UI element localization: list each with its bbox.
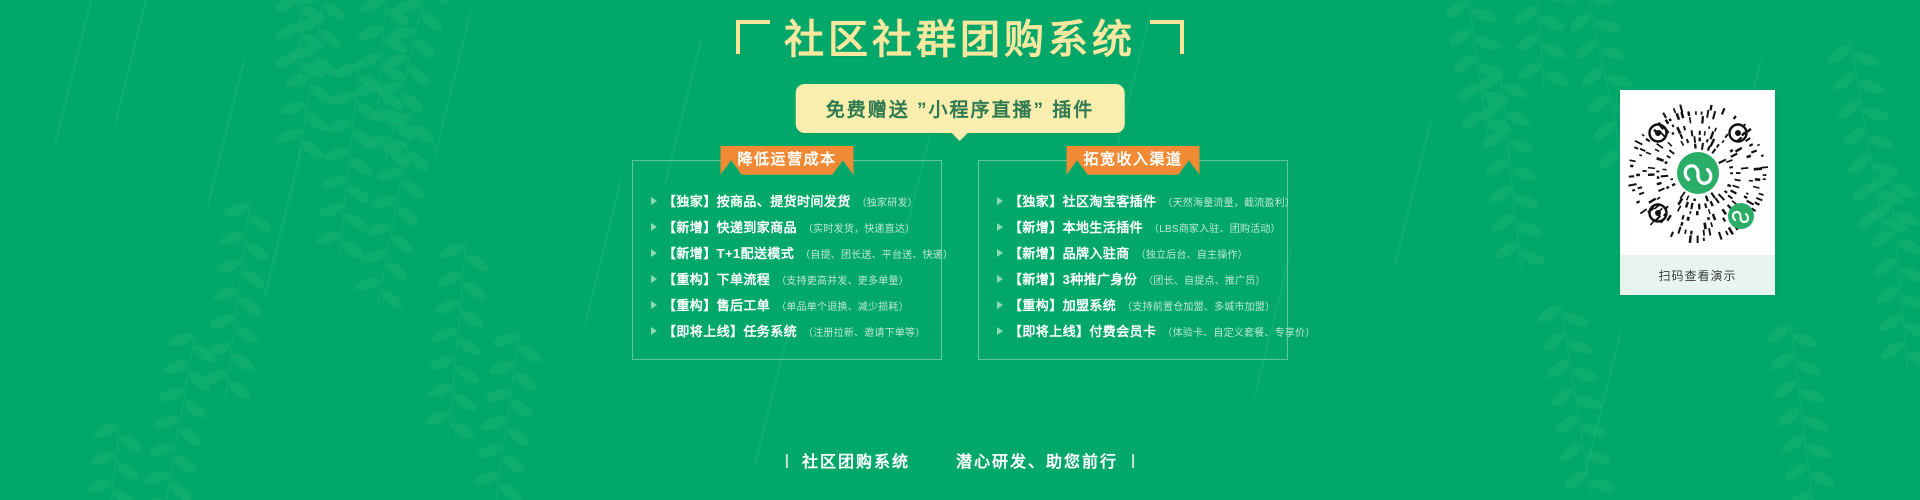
- list-item[interactable]: 【重构】下单流程 （支持更高并发、更多单量）: [647, 265, 927, 291]
- feature-title: 【重构】加盟系统: [1009, 295, 1116, 314]
- triangle-bullet-icon: [651, 275, 657, 283]
- triangle-bullet-icon: [651, 223, 657, 231]
- triangle-bullet-icon: [997, 327, 1003, 335]
- feature-title: 【独家】社区淘宝客插件: [1009, 191, 1156, 210]
- footer: | 社区团购系统 潜心研发、助您前行 |: [0, 448, 1920, 472]
- promo-banner-text: 免费赠送 ”小程序直播” 插件: [826, 100, 1095, 121]
- feature-note: （体验卡、自定义套餐、专享价）: [1162, 324, 1315, 339]
- feature-note: （自提、团长送、平台送、快递）: [800, 246, 953, 261]
- list-item[interactable]: 【独家】按商品、提货时间发货 （独家研发）: [647, 187, 927, 213]
- list-item[interactable]: 【新增】品牌入驻商 （独立后台、自主操作）: [993, 239, 1273, 265]
- wechat-miniprogram-qr-icon: [1628, 103, 1768, 243]
- list-item[interactable]: 【即将上线】付费会员卡 （体验卡、自定义套餐、专享价）: [993, 317, 1273, 343]
- feature-note: （支持更高并发、更多单量）: [776, 272, 909, 287]
- feature-title: 【重构】下单流程: [663, 269, 770, 288]
- qr-demo-card[interactable]: 扫码查看演示: [1620, 90, 1775, 295]
- triangle-bullet-icon: [997, 275, 1003, 283]
- footer-divider-right: |: [1131, 452, 1135, 469]
- list-item[interactable]: 【即将上线】任务系统 （注册拉新、邀请下单等）: [647, 317, 927, 343]
- feature-note: （实时发货，快递直达）: [803, 220, 915, 235]
- triangle-bullet-icon: [651, 327, 657, 335]
- feature-title: 【即将上线】付费会员卡: [1009, 321, 1156, 340]
- feature-title: 【新增】快递到家商品: [663, 217, 797, 236]
- page-title-text: 社区社群团购系统: [784, 20, 1136, 60]
- list-item[interactable]: 【新增】快递到家商品 （实时发货，快递直达）: [647, 213, 927, 239]
- panel-badge-cost: 降低运营成本: [720, 146, 853, 175]
- triangle-bullet-icon: [997, 223, 1003, 231]
- footer-slogan: 潜心研发、助您前行: [956, 448, 1118, 472]
- feature-note: （支持前置仓加盟、多城市加盟）: [1122, 298, 1275, 313]
- footer-brand: 社区团购系统: [802, 448, 910, 472]
- feature-title: 【即将上线】任务系统: [663, 321, 797, 340]
- feature-title: 【重构】售后工单: [663, 295, 770, 314]
- feature-title: 【独家】按商品、提货时间发货: [663, 191, 851, 210]
- triangle-bullet-icon: [997, 301, 1003, 309]
- feature-note: （独家研发）: [857, 194, 918, 209]
- page-title: 社区社群团购系统: [0, 20, 1920, 60]
- feature-note: （LBS商家入驻、团购活动）: [1149, 220, 1281, 235]
- feature-note: （团长、自提点、推广员）: [1143, 272, 1265, 287]
- list-item[interactable]: 【重构】加盟系统 （支持前置仓加盟、多城市加盟）: [993, 291, 1273, 317]
- list-item[interactable]: 【独家】社区淘宝客插件 （天然海量流量，截流盈利）: [993, 187, 1273, 213]
- triangle-bullet-icon: [651, 197, 657, 205]
- feature-title: 【新增】品牌入驻商: [1009, 243, 1130, 262]
- feature-note: （独立后台、自主操作）: [1136, 246, 1248, 261]
- promo-banner-pointer: [951, 132, 969, 141]
- qr-image-wrap: [1620, 90, 1775, 255]
- feature-title: 【新增】T+1配送模式: [663, 243, 794, 262]
- list-item[interactable]: 【重构】售后工单 （单品单个退换、减少损耗）: [647, 291, 927, 317]
- list-item[interactable]: 【新增】T+1配送模式 （自提、团长送、平台送、快递）: [647, 239, 927, 265]
- feature-panel-cost: 降低运营成本 【独家】按商品、提货时间发货 （独家研发） 【新增】快递到家商品 …: [632, 160, 942, 360]
- triangle-bullet-icon: [651, 249, 657, 257]
- feature-note: （单品单个退换、减少损耗）: [776, 298, 909, 313]
- triangle-bullet-icon: [997, 249, 1003, 257]
- list-item[interactable]: 【新增】3种推广身份 （团长、自提点、推广员）: [993, 265, 1273, 291]
- feature-note: （注册拉新、邀请下单等）: [803, 324, 925, 339]
- triangle-bullet-icon: [651, 301, 657, 309]
- feature-panel-revenue: 拓宽收入渠道 【独家】社区淘宝客插件 （天然海量流量，截流盈利） 【新增】本地生…: [978, 160, 1288, 360]
- list-item[interactable]: 【新增】本地生活插件 （LBS商家入驻、团购活动）: [993, 213, 1273, 239]
- triangle-bullet-icon: [997, 197, 1003, 205]
- feature-title: 【新增】本地生活插件: [1009, 217, 1143, 236]
- feature-list-cost: 【独家】按商品、提货时间发货 （独家研发） 【新增】快递到家商品 （实时发货，快…: [647, 187, 927, 343]
- qr-caption: 扫码查看演示: [1620, 255, 1775, 295]
- feature-list-revenue: 【独家】社区淘宝客插件 （天然海量流量，截流盈利） 【新增】本地生活插件 （LB…: [993, 187, 1273, 343]
- bracket-left-icon: [736, 20, 770, 54]
- panel-badge-revenue: 拓宽收入渠道: [1066, 146, 1199, 175]
- bracket-right-icon: [1150, 20, 1184, 54]
- footer-divider-left: |: [785, 452, 789, 469]
- feature-note: （天然海量流量，截流盈利）: [1162, 194, 1295, 209]
- feature-title: 【新增】3种推广身份: [1009, 269, 1137, 288]
- promo-banner: 免费赠送 ”小程序直播” 插件: [796, 84, 1125, 133]
